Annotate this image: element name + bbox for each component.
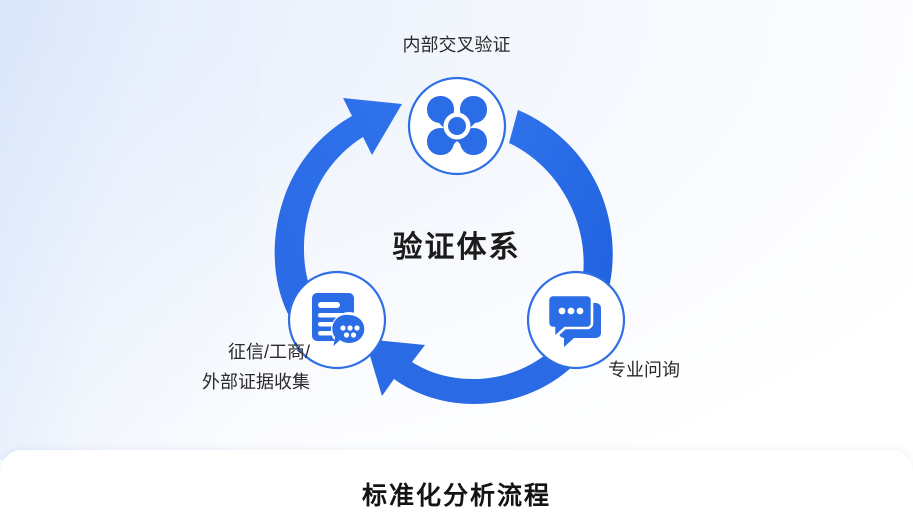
node-circle-professional-inquiry[interactable] bbox=[528, 272, 624, 368]
node-label-professional-inquiry: 专业问询 bbox=[608, 355, 680, 385]
node-circle-internal-cross-validation[interactable] bbox=[409, 78, 505, 174]
node-label-internal-cross-validation: 内部交叉验证 bbox=[0, 30, 913, 60]
slide-canvas: 验证体系 内部交叉验证 征信/工商/ 外部证据收集 专业问询 标准化分析流程 bbox=[0, 0, 913, 517]
cycle-diagram: 验证体系 内部交叉验证 征信/工商/ 外部证据收集 专业问询 bbox=[0, 0, 913, 450]
node-label-external-evidence-line1: 征信/工商/ bbox=[20, 337, 310, 367]
footer-title: 标准化分析流程 bbox=[0, 476, 913, 512]
footer-panel: 标准化分析流程 bbox=[0, 450, 913, 517]
node-label-external-evidence: 征信/工商/ 外部证据收集 bbox=[20, 337, 310, 397]
diagram-center-label: 验证体系 bbox=[0, 222, 913, 266]
node-label-external-evidence-line2: 外部证据收集 bbox=[20, 367, 310, 397]
